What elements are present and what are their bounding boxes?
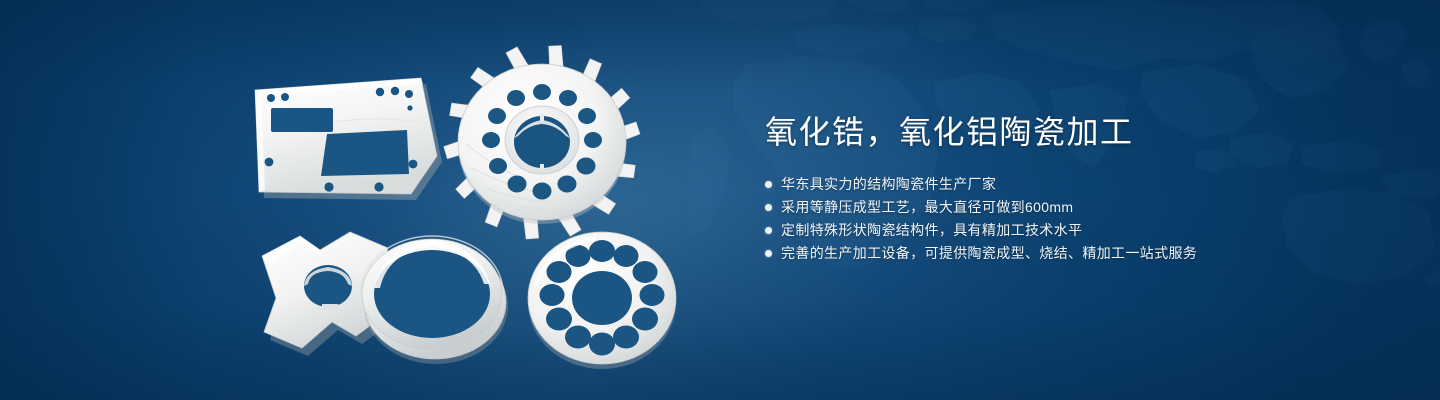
promo-banner: 氧化锆，氧化铝陶瓷加工 华东具实力的结构陶瓷件生产厂家 采用等静压成型工艺，最大… [0,0,1440,400]
list-item: 定制特殊形状陶瓷结构件，具有精加工技术水平 [765,219,1385,242]
ceramic-ring [352,222,522,370]
ceramic-plate [247,72,447,202]
list-item-label: 华东具实力的结构陶瓷件生产厂家 [781,173,996,196]
bullet-dot-icon [765,181,772,188]
page-title: 氧化锆，氧化铝陶瓷加工 [765,112,1385,152]
bullet-dot-icon [765,204,772,211]
banner-copy: 氧化锆，氧化铝陶瓷加工 华东具实力的结构陶瓷件生产厂家 采用等静压成型工艺，最大… [765,112,1385,265]
product-photo-group [0,0,720,400]
list-item-label: 完善的生产加工设备，可提供陶瓷成型、烧结、精加工一站式服务 [781,242,1197,265]
bullet-dot-icon [765,227,772,234]
bullet-dot-icon [765,250,772,257]
list-item-label: 采用等静压成型工艺，最大直径可做到600mm [781,196,1073,219]
list-item: 采用等静压成型工艺，最大直径可做到600mm [765,196,1385,219]
list-item: 完善的生产加工设备，可提供陶瓷成型、烧结、精加工一站式服务 [765,242,1385,265]
list-item-label: 定制特殊形状陶瓷结构件，具有精加工技术水平 [781,219,1082,242]
list-item: 华东具实力的结构陶瓷件生产厂家 [765,173,1385,196]
ceramic-impeller [432,42,652,242]
feature-list: 华东具实力的结构陶瓷件生产厂家 采用等静压成型工艺，最大直径可做到600mm 定… [765,173,1385,265]
ceramic-disc [518,222,686,374]
